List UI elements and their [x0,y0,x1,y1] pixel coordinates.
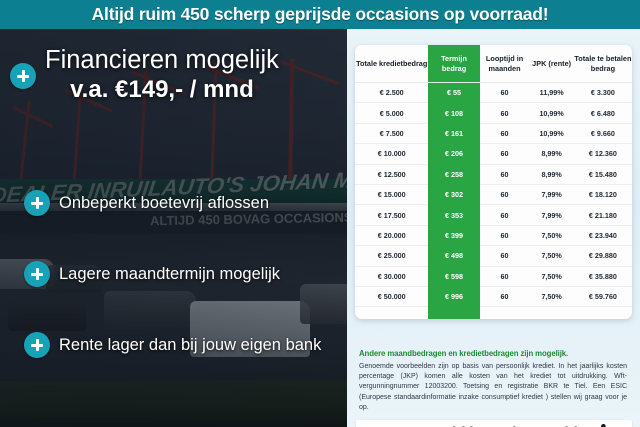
cell-jkp: 8,99% [529,144,573,164]
cell-jkp: 8,99% [529,164,573,184]
column-header-jkp: JPK (rente) [529,45,573,83]
feature-label: Onbeperkt boetevrij aflossen [59,194,269,213]
promo-banner-graphic: Altijd ruim 450 scherp geprijsde occasio… [0,0,640,427]
cell-jkp: 10,99% [529,123,573,143]
cell-total-payable: € 59.760 [574,286,632,306]
cell-total-credit: € 50.000 [355,286,428,306]
table-row: € 50.000 € 996 60 7,50% € 59.760 [355,286,632,306]
hero-block: Financieren mogelijk v.a. €149,- / mnd [10,45,340,105]
cell-jkp: 7,50% [529,246,573,266]
spacer-cell [355,307,428,320]
hero-headline: Financieren mogelijk [45,45,279,75]
cell-monthly-amount: € 302 [428,184,479,204]
spacer-cell [574,307,632,320]
feature-label: Lagere maandtermijn mogelijk [59,265,280,284]
spacer-cell [529,307,573,320]
cell-total-payable: € 23.940 [574,225,632,245]
cell-duration: 60 [480,225,530,245]
table-footer-spacer-row [355,307,632,320]
cell-total-credit: € 25.000 [355,246,428,266]
cell-duration: 60 [480,144,530,164]
rates-table: Totale kredietbedrag Termijn bedrag Loop… [355,45,632,319]
table-row: € 7.500 € 161 60 10,99% € 9.660 [355,123,632,143]
cell-duration: 60 [480,205,530,225]
cell-duration: 60 [480,266,530,286]
cell-monthly-amount: € 399 [428,225,479,245]
cell-duration: 60 [480,123,530,143]
table-row: € 5.000 € 108 60 10,99% € 6.480 [355,103,632,123]
cell-total-payable: € 21.180 [574,205,632,225]
cell-monthly-amount: € 206 [428,144,479,164]
feature-item-1: Onbeperkt boetevrij aflossen [24,190,269,216]
cell-total-payable: € 29.880 [574,246,632,266]
cell-total-credit: € 10.000 [355,144,428,164]
cell-duration: 60 [480,83,530,103]
cell-total-credit: € 17.500 [355,205,428,225]
cell-jkp: 10,99% [529,103,573,123]
table-row: € 25.000 € 498 60 7,50% € 29.880 [355,246,632,266]
cell-monthly-amount: € 258 [428,164,479,184]
top-banner: Altijd ruim 450 scherp geprijsde occasio… [0,0,640,29]
column-header-total-credit: Totale kredietbedrag [355,45,428,83]
cell-total-credit: € 5.000 [355,103,428,123]
cell-monthly-amount: € 353 [428,205,479,225]
left-feature-column: Financieren mogelijk v.a. €149,- / mnd O… [0,29,348,427]
plus-circle-icon [24,332,50,358]
table-row: € 20.000 € 399 60 7,50% € 23.940 [355,225,632,245]
cell-total-payable: € 15.480 [574,164,632,184]
spacer-cell [480,307,530,320]
cell-total-payable: € 18.120 [574,184,632,204]
cell-monthly-amount: € 498 [428,246,479,266]
column-header-total-payable: Totale te betalen bedrag [574,45,632,83]
feature-label: Rente lager dan bij jouw eigen bank [59,336,321,355]
cell-total-payable: € 6.480 [574,103,632,123]
cell-duration: 60 [480,164,530,184]
cell-duration: 60 [480,103,530,123]
top-banner-text: Altijd ruim 450 scherp geprijsde occasio… [92,4,549,25]
cell-total-credit: € 15.000 [355,184,428,204]
plus-circle-icon [24,190,50,216]
column-header-duration: Looptijd in maanden [480,45,530,83]
cell-total-payable: € 35.880 [574,266,632,286]
rates-table-card: Totale kredietbedrag Termijn bedrag Loop… [355,45,632,319]
table-row: € 12.500 € 258 60 8,99% € 15.480 [355,164,632,184]
plus-circle-icon [10,63,36,89]
table-header-row: Totale kredietbedrag Termijn bedrag Loop… [355,45,632,83]
cell-monthly-amount: € 161 [428,123,479,143]
spacer-cell-highlight [428,307,479,320]
cell-duration: 60 [480,184,530,204]
feature-item-2: Lagere maandtermijn mogelijk [24,261,280,287]
table-row: € 17.500 € 353 60 7,99% € 21.180 [355,205,632,225]
cell-duration: 60 [480,246,530,266]
cell-duration: 60 [480,286,530,306]
loan-warning-box: Let op! Geld lenen kost geld [356,420,632,427]
cell-monthly-amount: € 55 [428,83,479,103]
cell-total-payable: € 12.360 [574,144,632,164]
rates-table-body: € 2.500 € 55 60 11,99% € 3.300 € 5.000 €… [355,83,632,320]
cell-total-payable: € 3.300 [574,83,632,103]
table-row: € 15.000 € 302 60 7,99% € 18.120 [355,184,632,204]
cell-jkp: 7,50% [529,286,573,306]
cell-monthly-amount: € 996 [428,286,479,306]
cell-total-credit: € 2.500 [355,83,428,103]
disclaimer-title: Andere maandbedragen en kredietbedragen … [359,349,631,358]
table-row: € 2.500 € 55 60 11,99% € 3.300 [355,83,632,103]
cell-monthly-amount: € 108 [428,103,479,123]
feature-item-3: Rente lager dan bij jouw eigen bank [24,332,321,358]
cell-jkp: 7,50% [529,225,573,245]
cell-total-payable: € 9.660 [574,123,632,143]
cell-jkp: 7,50% [529,266,573,286]
plus-circle-icon [24,261,50,287]
cell-jkp: 7,99% [529,205,573,225]
cell-total-credit: € 12.500 [355,164,428,184]
running-man-warning-icon [584,423,610,427]
rates-panel: Totale kredietbedrag Termijn bedrag Loop… [347,29,640,427]
cell-total-credit: € 30.000 [355,266,428,286]
cell-total-credit: € 20.000 [355,225,428,245]
column-header-monthly-amount: Termijn bedrag [428,45,479,83]
hero-subheadline: v.a. €149,- / mnd [45,75,279,105]
table-row: € 10.000 € 206 60 8,99% € 12.360 [355,144,632,164]
disclaimer-body: Genoemde voorbeelden zijn op basis van p… [359,362,627,413]
table-row: € 30.000 € 598 60 7,50% € 35.880 [355,266,632,286]
cell-monthly-amount: € 598 [428,266,479,286]
cell-jkp: 7,99% [529,184,573,204]
cell-jkp: 11,99% [529,83,573,103]
cell-total-credit: € 7.500 [355,123,428,143]
